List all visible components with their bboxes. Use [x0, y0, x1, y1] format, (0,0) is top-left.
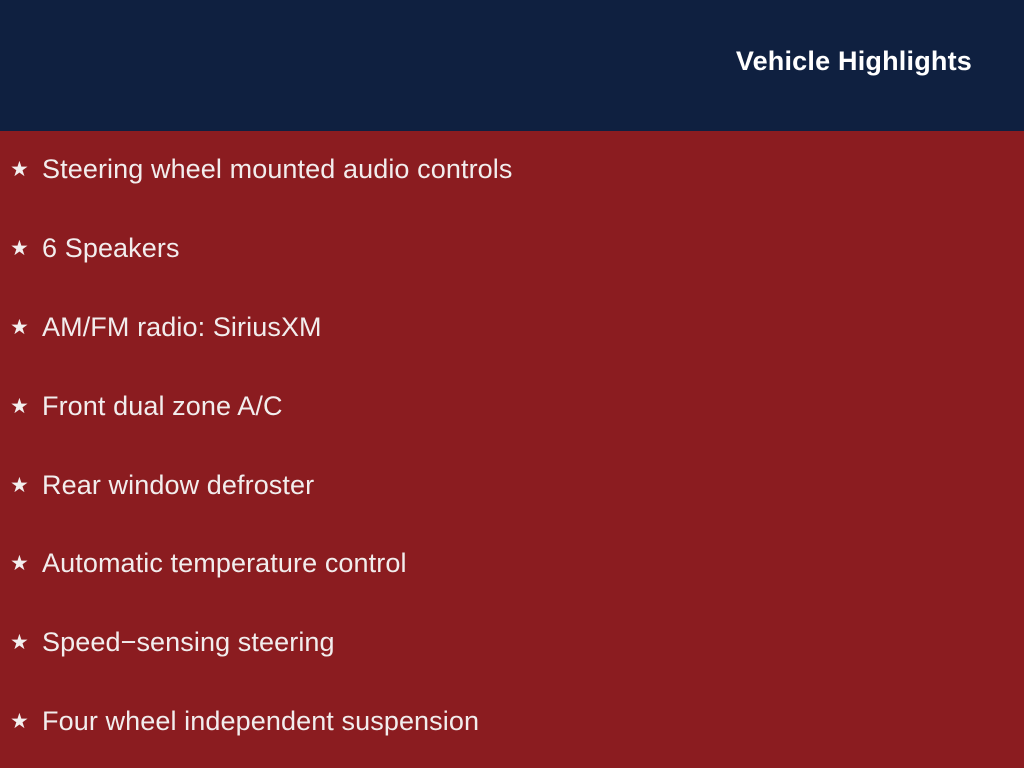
list-item-label: Front dual zone A/C	[42, 391, 283, 422]
star-bullet-icon: ★	[10, 317, 42, 338]
star-bullet-icon: ★	[10, 159, 42, 180]
star-bullet-icon: ★	[10, 238, 42, 259]
list-item-label: 6 Speakers	[42, 233, 180, 264]
star-bullet-icon: ★	[10, 396, 42, 417]
list-item: ★ Four wheel independent suspension	[10, 702, 479, 742]
list-item: ★ Front dual zone A/C	[10, 387, 283, 427]
star-bullet-icon: ★	[10, 475, 42, 496]
list-item-label: Speed−sensing steering	[42, 627, 335, 658]
list-item-label: Automatic temperature control	[42, 548, 407, 579]
list-item: ★ Automatic temperature control	[10, 544, 407, 584]
list-item-label: Steering wheel mounted audio controls	[42, 154, 513, 185]
list-item: ★ Rear window defroster	[10, 466, 314, 506]
list-item-label: AM/FM radio: SiriusXM	[42, 312, 322, 343]
list-item-label: Four wheel independent suspension	[42, 706, 479, 737]
list-item: ★ 6 Speakers	[10, 229, 180, 269]
list-item: ★ Speed−sensing steering	[10, 623, 335, 663]
star-bullet-icon: ★	[10, 711, 42, 732]
vehicle-highlights-list: ★ Steering wheel mounted audio controls …	[0, 131, 1024, 768]
list-item: ★ Steering wheel mounted audio controls	[10, 150, 513, 190]
list-item-label: Rear window defroster	[42, 470, 314, 501]
header-band: Vehicle Highlights	[0, 0, 1024, 131]
vehicle-highlights-slide: Vehicle Highlights ★ Steering wheel moun…	[0, 0, 1024, 768]
star-bullet-icon: ★	[10, 553, 42, 574]
star-bullet-icon: ★	[10, 632, 42, 653]
list-item: ★ AM/FM radio: SiriusXM	[10, 308, 322, 348]
page-title: Vehicle Highlights	[736, 47, 972, 77]
